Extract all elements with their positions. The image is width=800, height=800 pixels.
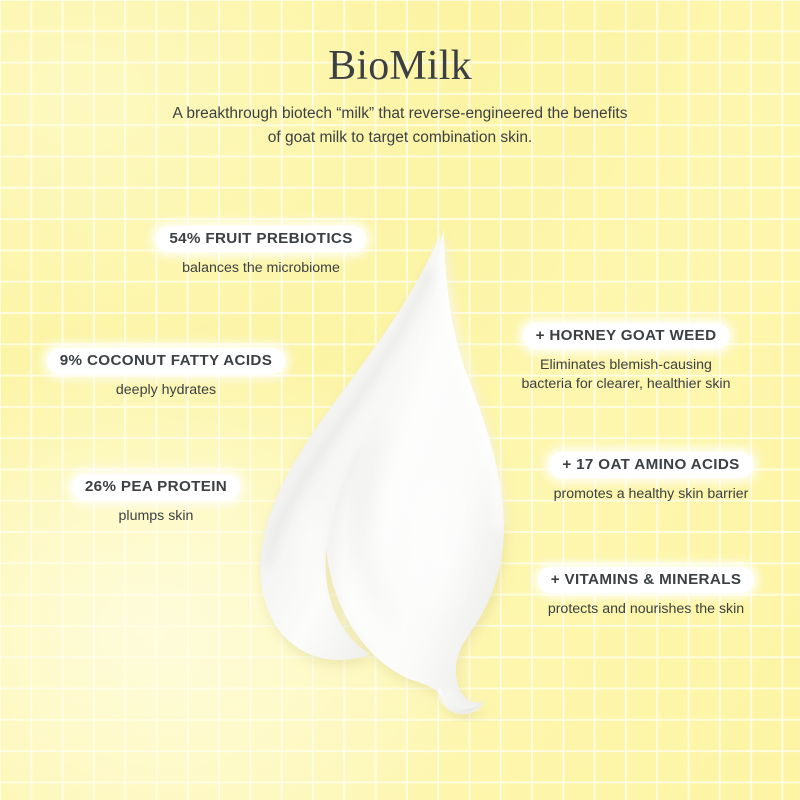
page-subtitle: A breakthrough biotech “milk” that rever… [165, 102, 635, 149]
callout-fruit-prebiotics: 54% FRUIT PREBIOTICS balances the microb… [138, 226, 384, 278]
callout-description: promotes a healthy skin barrier [554, 485, 749, 504]
infographic-canvas: BioMilk A breakthrough biotech “milk” th… [0, 0, 800, 800]
callout-label: 9% COCONUT FATTY ACIDS [47, 348, 285, 374]
callout-description: protects and nourishes the skin [548, 600, 744, 619]
callout-label: + VITAMINS & MINERALS [538, 567, 755, 593]
callout-pea-protein: 26% PEA PROTEIN plumps skin [36, 474, 276, 526]
callout-label: 54% FRUIT PREBIOTICS [156, 226, 365, 252]
callout-description: deeply hydrates [116, 381, 216, 400]
callout-coconut-fatty-acids: 9% COCONUT FATTY ACIDS deeply hydrates [22, 348, 310, 400]
callout-description: plumps skin [119, 507, 194, 526]
milk-droplet-illustration [232, 212, 532, 722]
header: BioMilk A breakthrough biotech “milk” th… [0, 0, 800, 149]
callout-oat-amino-acids: + 17 OAT AMINO ACIDS promotes a healthy … [522, 452, 780, 504]
callout-label: 26% PEA PROTEIN [72, 474, 240, 500]
callout-label: + HORNEY GOAT WEED [523, 323, 730, 349]
callout-vitamins-minerals: + VITAMINS & MINERALS protects and nouri… [508, 567, 784, 619]
callout-description: Eliminates blemish-causing bacteria for … [522, 356, 731, 395]
page-title: BioMilk [0, 44, 800, 88]
callout-horney-goat-weed: + HORNEY GOAT WEED Eliminates blemish-ca… [492, 323, 760, 395]
callout-description: balances the microbiome [182, 259, 340, 278]
callout-label: + 17 OAT AMINO ACIDS [549, 452, 752, 478]
